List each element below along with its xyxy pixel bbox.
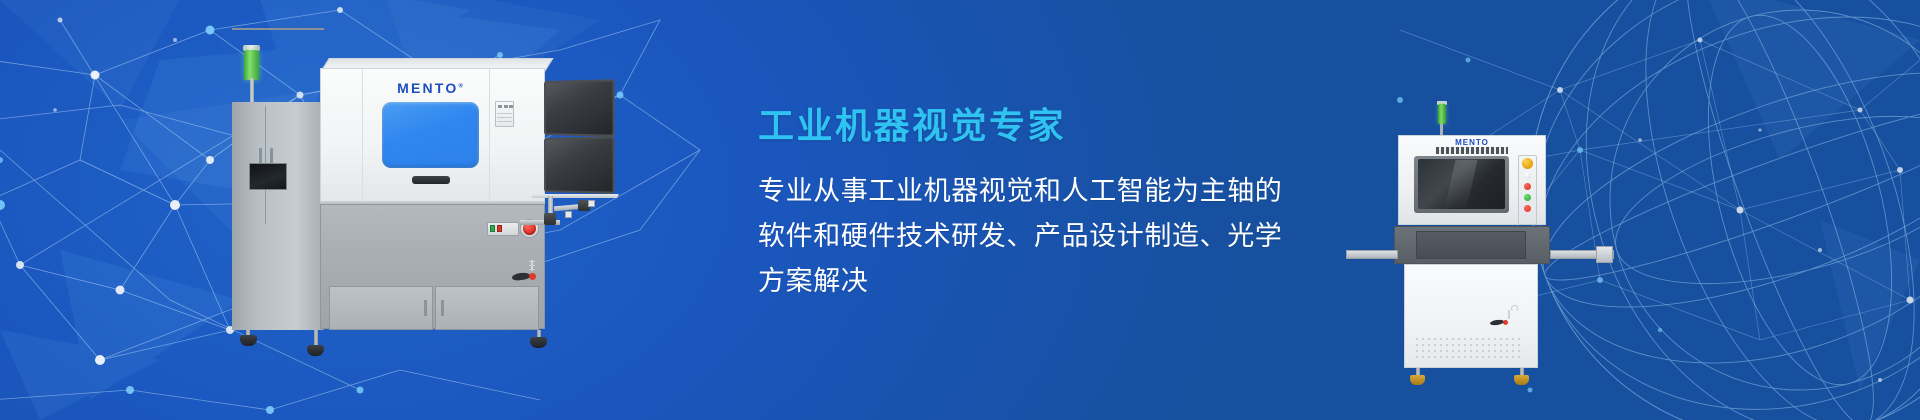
lower-cabinet-handle-left [424, 300, 427, 316]
right-indicator-red-1-icon [1524, 183, 1531, 190]
signal-tower-green-lamp-icon [244, 50, 259, 80]
inspection-view-window [382, 102, 479, 168]
start-switch-green-icon [490, 225, 495, 232]
monitor-arm-knob-lower [565, 211, 572, 218]
right-indicator-white-icon [1524, 172, 1531, 179]
upper-panel-seam-right [489, 69, 490, 203]
right-indicator-green-icon [1524, 194, 1531, 201]
hmi-detail-line-3 [497, 121, 512, 122]
hmi-led-2-icon [504, 105, 508, 108]
hero-banner: MENTO® [0, 0, 1920, 420]
right-warning-decal-dot-icon [1503, 320, 1508, 325]
description-line-3: 方案解决 [758, 259, 1228, 304]
hmi-detail-line-1 [497, 113, 512, 114]
monitor-lower [544, 136, 615, 194]
warning-decal-tick-2 [529, 265, 535, 266]
machine-left-inspection-cabinet: MENTO® [232, 28, 604, 350]
right-mid-band-inner [1416, 231, 1526, 259]
right-warning-decal-pin [1508, 310, 1510, 319]
stop-switch-red-icon [497, 225, 502, 232]
front-door-handle [412, 176, 450, 184]
right-leveling-foot-2 [1514, 375, 1529, 385]
machine-right-brand-subtext [1436, 147, 1508, 154]
machine-right-inline-aoi: MENTO [1398, 98, 1668, 388]
lower-cabinet-door-right [435, 286, 539, 330]
side-cabinet-dark-window [249, 163, 287, 190]
monitor-arm-joint-lower [544, 213, 556, 225]
hmi-detail-line-2 [497, 117, 512, 118]
conveyor-end-block [1596, 246, 1613, 263]
leveling-foot-1 [240, 335, 257, 346]
warning-decal-dot-icon [529, 273, 536, 280]
description-line-1: 专业从事工业机器视觉和人工智能为主轴的 [758, 169, 1228, 214]
monitor-shelf [531, 194, 619, 198]
warning-decal-tick-3 [529, 269, 535, 270]
side-cabinet-top-edge [232, 28, 324, 30]
right-emergency-stop-icon [1522, 158, 1533, 169]
right-signal-tower-green-lamp-icon [1438, 104, 1446, 124]
lower-cabinet-door-left [329, 286, 433, 330]
leveling-foot-2 [307, 345, 324, 356]
machine-left-brand-logo: MENTO® [375, 80, 485, 96]
conveyor-rail-left [1346, 250, 1398, 259]
description-line-2: 软件和硬件技术研发、产品设计制造、光学 [758, 214, 1228, 259]
hmi-led-1-icon [498, 105, 502, 108]
side-cabinet-panel [232, 102, 324, 330]
right-indicator-red-2-icon [1524, 205, 1531, 212]
leveling-foot-3 [530, 337, 547, 348]
trademark-symbol: ® [458, 83, 462, 89]
page-title: 工业机器视觉专家 [758, 108, 1228, 144]
machine-right-brand-logo: MENTO [1436, 138, 1508, 147]
monitor-arm-knob-upper [588, 200, 595, 207]
banner-text-block: 工业机器视觉专家 专业从事工业机器视觉和人工智能为主轴的 软件和硬件技术研发、产… [758, 108, 1228, 304]
signal-tower-pole [250, 78, 254, 104]
hmi-led-3-icon [509, 105, 513, 108]
lower-cabinet-handle-right [441, 300, 444, 316]
monitor-upper [544, 79, 615, 137]
brand-text: MENTO [397, 80, 458, 96]
upper-panel-seam-left [362, 69, 363, 203]
right-warning-decal-hook [1511, 305, 1518, 312]
right-leveling-foot-1 [1410, 375, 1425, 385]
machine-leg-2 [314, 330, 318, 346]
warning-decal-tick-1 [529, 261, 535, 262]
right-ventilation-grille [1414, 336, 1524, 358]
